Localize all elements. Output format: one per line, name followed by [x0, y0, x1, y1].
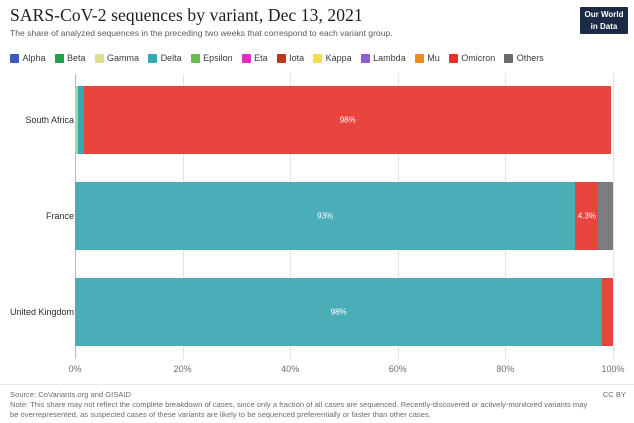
legend-swatch-alpha-icon [10, 54, 19, 63]
bar-segment-value: 98% [340, 116, 356, 125]
bar-label: France [46, 211, 74, 221]
bar-segment-omicron[interactable]: 4.3% [575, 182, 598, 250]
legend-item-alpha[interactable]: Alpha [10, 53, 46, 63]
legend-label: Kappa [326, 53, 352, 63]
legend-item-epsilon[interactable]: Epsilon [191, 53, 233, 63]
bar-segment-delta[interactable]: 93% [75, 182, 575, 250]
x-tick-label: 100% [601, 364, 624, 374]
legend-swatch-iota-icon [277, 54, 286, 63]
bar-track: 98% [75, 86, 611, 154]
logo-line-2: in Data [580, 21, 628, 33]
legend-swatch-eta-icon [242, 54, 251, 63]
legend-item-beta[interactable]: Beta [55, 53, 86, 63]
bar-group-france[interactable]: France93%4.3% [0, 182, 634, 250]
legend-label: Lambda [373, 53, 406, 63]
legend-swatch-lambda-icon [361, 54, 370, 63]
legend-swatch-gamma-icon [95, 54, 104, 63]
bar-track: 93%4.3% [75, 182, 613, 250]
legend-label: Gamma [107, 53, 139, 63]
bar-segment-delta[interactable]: 98% [75, 278, 602, 346]
chart-footer: Source: CoVariants.org and GISAID Note: … [0, 384, 634, 423]
footer-license[interactable]: CC BY [603, 390, 626, 399]
bar-label: South Africa [25, 115, 74, 125]
bar-group-united-kingdom[interactable]: United Kingdom98% [0, 278, 634, 346]
legend-item-others[interactable]: Others [504, 53, 544, 63]
bar-segment-value: 98% [331, 308, 347, 317]
legend-item-lambda[interactable]: Lambda [361, 53, 406, 63]
legend-label: Epsilon [203, 53, 233, 63]
chart-legend: AlphaBetaGammaDeltaEpsilonEtaIotaKappaLa… [10, 50, 544, 66]
legend-swatch-others-icon [504, 54, 513, 63]
legend-item-delta[interactable]: Delta [148, 53, 182, 63]
chart-plot-area: South Africa98%France93%4.3%United Kingd… [0, 74, 634, 359]
chart-subtitle: The share of analyzed sequences in the p… [10, 28, 393, 38]
x-tick-label: 60% [389, 364, 407, 374]
legend-swatch-delta-icon [148, 54, 157, 63]
bar-track: 98% [75, 278, 613, 346]
legend-swatch-kappa-icon [313, 54, 322, 63]
legend-label: Iota [289, 53, 304, 63]
legend-swatch-omicron-icon [449, 54, 458, 63]
footer-source: Source: CoVariants.org and GISAID [10, 390, 131, 399]
x-tick-label: 40% [281, 364, 299, 374]
bar-label: United Kingdom [10, 307, 74, 317]
chart-header: SARS-CoV-2 sequences by variant, Dec 13,… [0, 0, 634, 44]
legend-item-gamma[interactable]: Gamma [95, 53, 140, 63]
legend-swatch-beta-icon [55, 54, 64, 63]
legend-label: Omicron [461, 53, 495, 63]
legend-label: Beta [67, 53, 86, 63]
x-tick-label: 80% [496, 364, 514, 374]
logo-line-1: Our World [580, 9, 628, 21]
bar-segment-omicron[interactable]: 98% [84, 86, 611, 154]
legend-item-omicron[interactable]: Omicron [449, 53, 496, 63]
our-world-in-data-logo[interactable]: Our World in Data [580, 7, 628, 34]
page-title: SARS-CoV-2 sequences by variant, Dec 13,… [10, 5, 363, 26]
legend-label: Mu [427, 53, 440, 63]
bar-segment-others[interactable] [598, 182, 613, 250]
x-tick-label: 0% [68, 364, 81, 374]
bar-group-south-africa[interactable]: South Africa98% [0, 86, 634, 154]
legend-label: Others [517, 53, 544, 63]
legend-item-kappa[interactable]: Kappa [313, 53, 352, 63]
x-tick-label: 20% [174, 364, 192, 374]
bar-segment-others[interactable] [609, 278, 613, 346]
legend-label: Eta [254, 53, 268, 63]
legend-item-mu[interactable]: Mu [415, 53, 440, 63]
legend-swatch-epsilon-icon [191, 54, 200, 63]
legend-label: Delta [161, 53, 182, 63]
bar-segment-value: 4.3% [578, 212, 596, 221]
legend-item-eta[interactable]: Eta [242, 53, 268, 63]
legend-item-iota[interactable]: Iota [277, 53, 305, 63]
legend-label: Alpha [23, 53, 46, 63]
footer-note: Note: This share may not reflect the com… [10, 400, 590, 420]
bar-segment-value: 93% [317, 212, 333, 221]
x-axis: 0%20%40%60%80%100% [0, 360, 634, 382]
legend-swatch-mu-icon [415, 54, 424, 63]
